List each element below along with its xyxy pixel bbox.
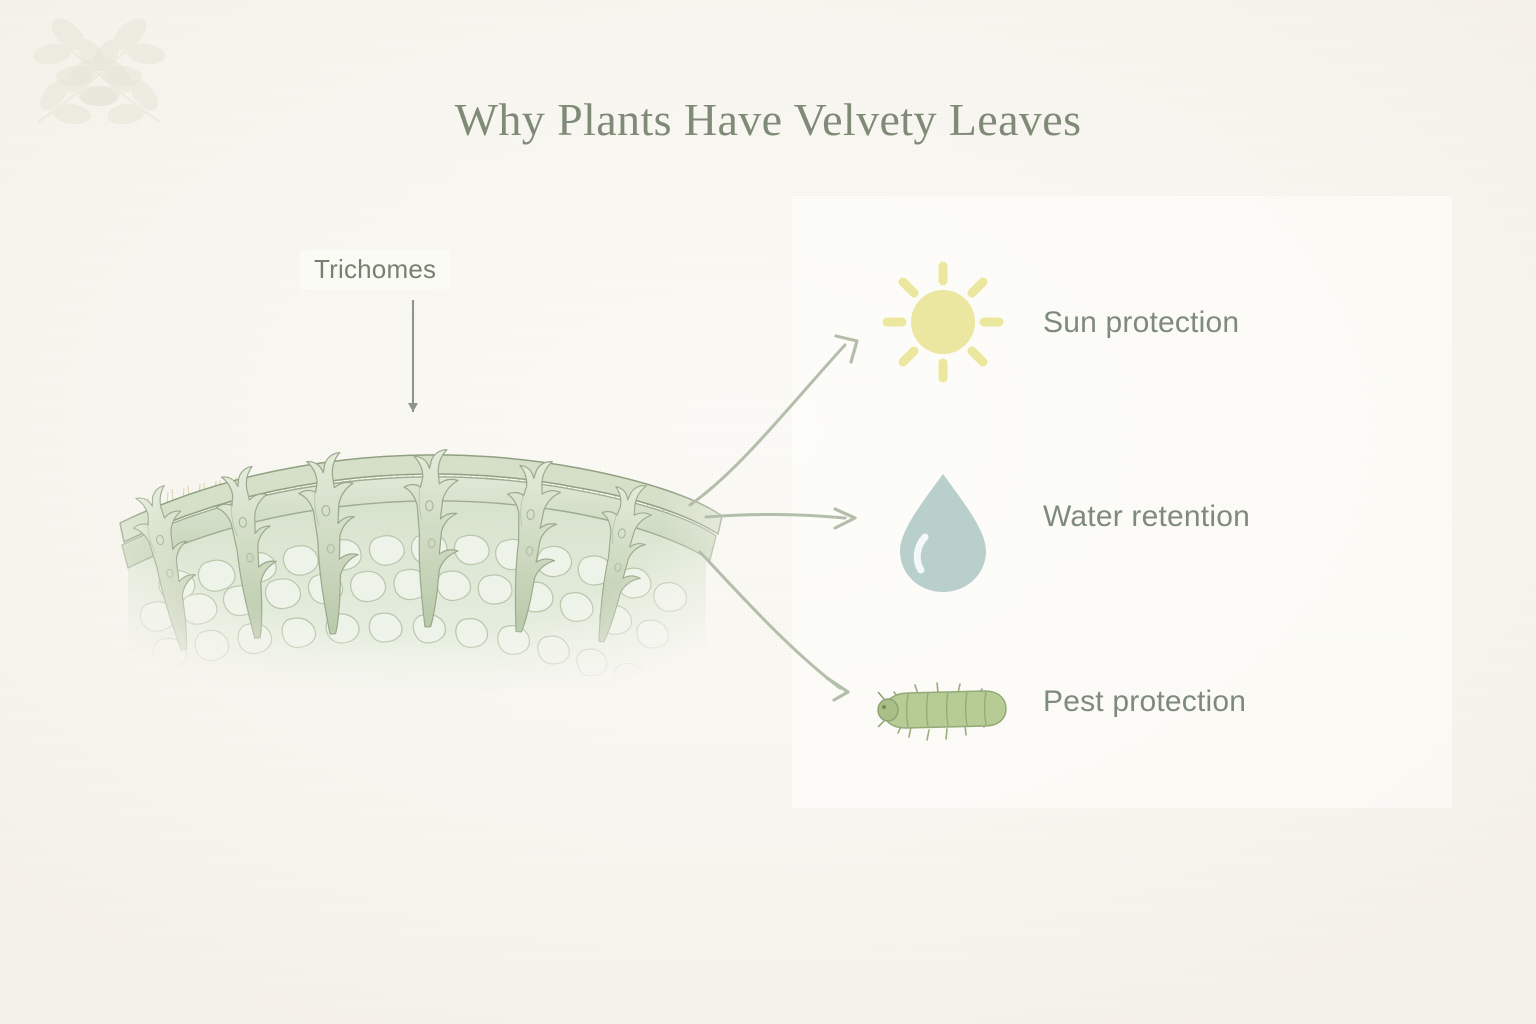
benefit-icons	[0, 0, 1536, 1024]
benefit-label-pest-protection: Pest protection	[1043, 685, 1246, 719]
sun-icon	[887, 266, 999, 378]
caterpillar-icon	[878, 683, 1006, 740]
infographic-canvas: Why Plants Have Velvety Leaves	[0, 0, 1536, 1024]
caterpillar-head	[878, 699, 898, 721]
water-drop-icon	[900, 474, 986, 592]
benefit-label-sun-protection: Sun protection	[1043, 306, 1239, 340]
benefit-label-water-retention: Water retention	[1043, 500, 1250, 534]
leaf-sprig-bottom-right	[0, 0, 190, 130]
